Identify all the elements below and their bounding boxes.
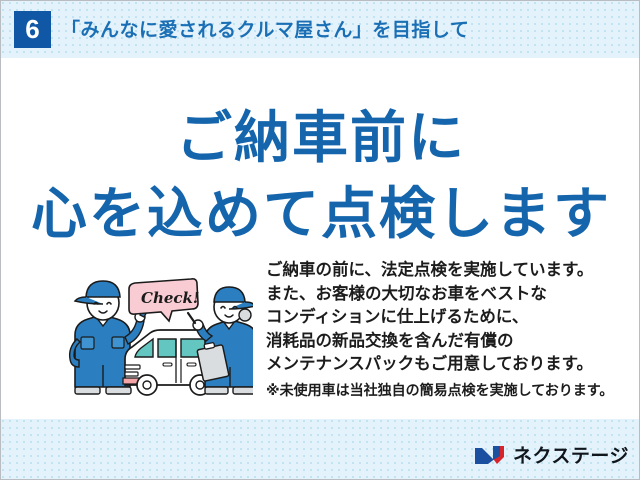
step-number-badge: 6 [14, 11, 51, 48]
mechanics-illustration: Check! [63, 273, 253, 401]
body-copy: ご納車の前に、法定点検を実施しています。 また、お客様の大切なお車をベストな コ… [266, 259, 632, 402]
body-line: コンディションに仕上げるために、 [266, 306, 632, 330]
headline-line-2: 心を込めて点検します [1, 169, 640, 250]
check-bubble-label: Check! [141, 289, 200, 307]
headline-line-1: ご納車前に [1, 93, 640, 174]
header-title: 「みんなに愛されるクルマ屋さん」を目指して [61, 15, 469, 42]
body-note: ※未使用車は当社独自の簡易点検を実施しております。 [266, 379, 632, 402]
mechanics-illustration-svg: Check! [63, 273, 253, 401]
nextage-n-mark-icon [473, 444, 506, 466]
advertisement-page: 6 「みんなに愛されるクルマ屋さん」を目指して ご納車前に 心を込めて点検します [0, 0, 640, 480]
brand-logo: ネクステージ [473, 441, 629, 468]
brand-name: ネクステージ [513, 441, 629, 468]
body-line: 消耗品の新品交換を含んだ有償の [266, 330, 632, 354]
body-line: また、お客様の大切なお車をベストな [266, 283, 632, 307]
body-line: メンテナンスパックもご用意しております。 [266, 353, 632, 377]
body-line: ご納車の前に、法定点検を実施しています。 [266, 259, 632, 283]
van-illustration [123, 330, 210, 395]
